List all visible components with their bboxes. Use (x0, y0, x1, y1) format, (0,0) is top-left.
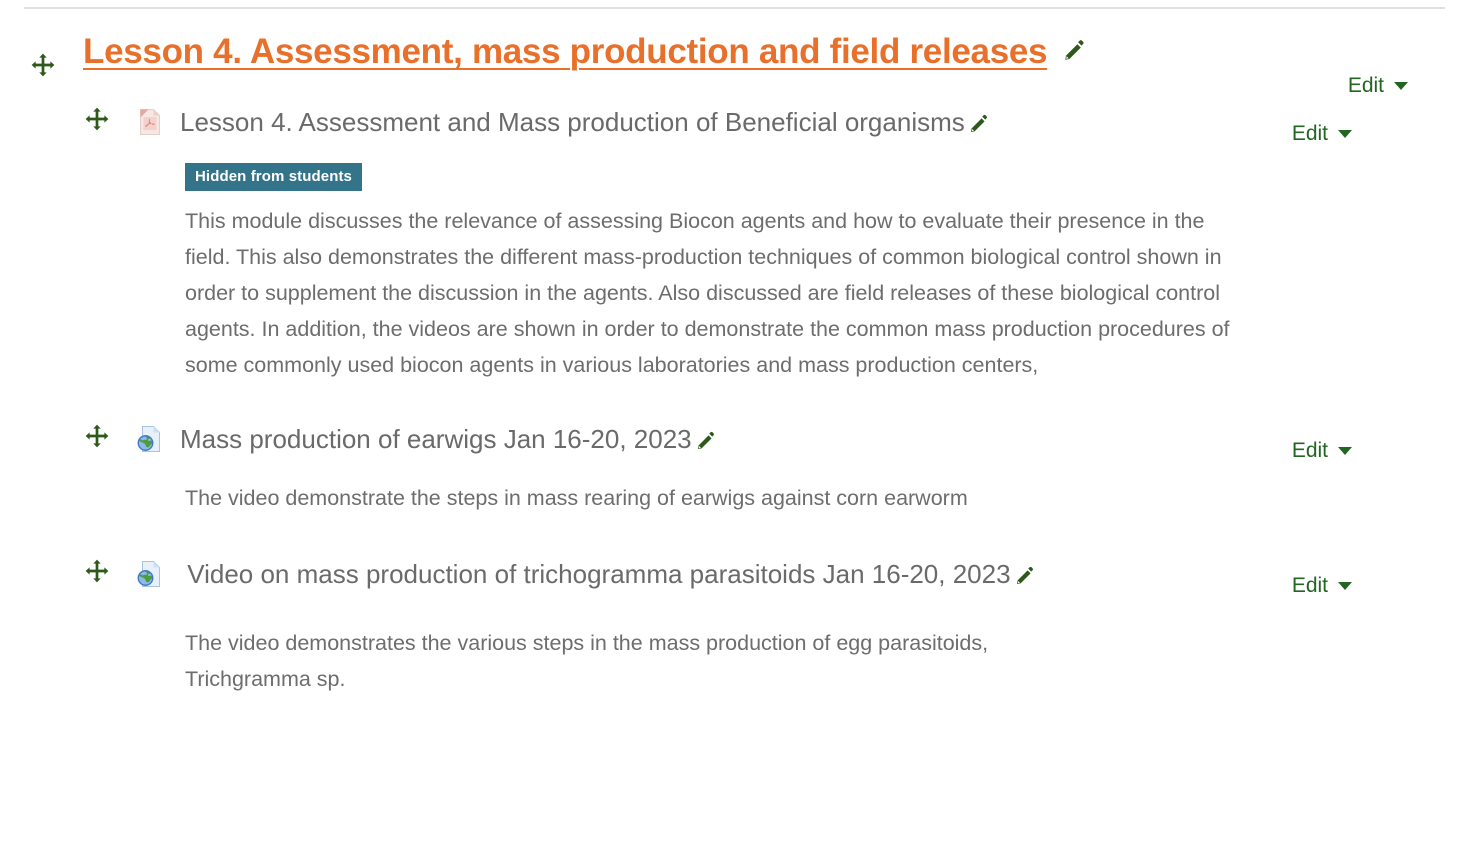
activity-body: Lesson 4. Assessment and Mass production… (134, 100, 1230, 383)
pdf-file-icon (134, 106, 166, 151)
url-globe-icon (134, 423, 166, 468)
activity-description: The video demonstrates the various steps… (185, 625, 1080, 697)
activity-edit-label: Edit (1292, 439, 1328, 463)
section-title-wrap: Lesson 4. Assessment, mass production an… (83, 32, 1087, 72)
activity-item: Lesson 4. Assessment and Mass production… (0, 100, 1460, 383)
chevron-down-icon (1394, 82, 1408, 90)
chevron-down-icon (1338, 447, 1352, 455)
activity-edit-menu[interactable]: Edit (1292, 122, 1352, 146)
pencil-icon[interactable] (1015, 555, 1036, 599)
url-globe-icon (134, 558, 166, 603)
section-edit-menu[interactable]: Edit (1348, 74, 1408, 98)
section-header: Lesson 4. Assessment, mass production an… (0, 22, 1460, 84)
course-section: Lesson 4. Assessment, mass production an… (0, 22, 1460, 697)
top-divider (24, 7, 1445, 9)
activity-description: This module discusses the relevance of a… (185, 203, 1230, 383)
move-arrows-icon[interactable] (84, 106, 110, 137)
activity-edit-label: Edit (1292, 574, 1328, 598)
activity-name[interactable]: Mass production of earwigs Jan 16-20, 20… (180, 424, 692, 454)
status-badge: Hidden from students (185, 163, 362, 191)
section-title[interactable]: Lesson 4. Assessment, mass production an… (83, 32, 1047, 72)
pencil-icon[interactable] (1063, 38, 1087, 67)
activity-name[interactable]: Lesson 4. Assessment and Mass production… (180, 107, 965, 137)
activity-description: The video demonstrate the steps in mass … (185, 480, 1230, 516)
move-arrows-icon[interactable] (30, 52, 56, 83)
pencil-icon[interactable] (696, 420, 717, 464)
activity-edit-label: Edit (1292, 122, 1328, 146)
chevron-down-icon (1338, 130, 1352, 138)
activity-item: Mass production of earwigs Jan 16-20, 20… (0, 417, 1460, 516)
pencil-icon[interactable] (969, 103, 990, 147)
activity-edit-menu[interactable]: Edit (1292, 574, 1352, 598)
move-arrows-icon[interactable] (84, 423, 110, 454)
activity-body: Video on mass production of trichogramma… (134, 552, 1080, 697)
activity-title-line: Video on mass production of trichogramma… (134, 552, 1080, 603)
activity-name[interactable]: Video on mass production of trichogramma… (180, 559, 1011, 589)
activity-title-line: Mass production of earwigs Jan 16-20, 20… (134, 417, 1230, 468)
activity-item: Video on mass production of trichogramma… (0, 552, 1460, 697)
activity-body: Mass production of earwigs Jan 16-20, 20… (134, 417, 1230, 516)
chevron-down-icon (1338, 582, 1352, 590)
move-arrows-icon[interactable] (84, 558, 110, 589)
activity-edit-menu[interactable]: Edit (1292, 439, 1352, 463)
section-edit-label: Edit (1348, 74, 1384, 98)
activity-title-line: Lesson 4. Assessment and Mass production… (134, 100, 1230, 151)
